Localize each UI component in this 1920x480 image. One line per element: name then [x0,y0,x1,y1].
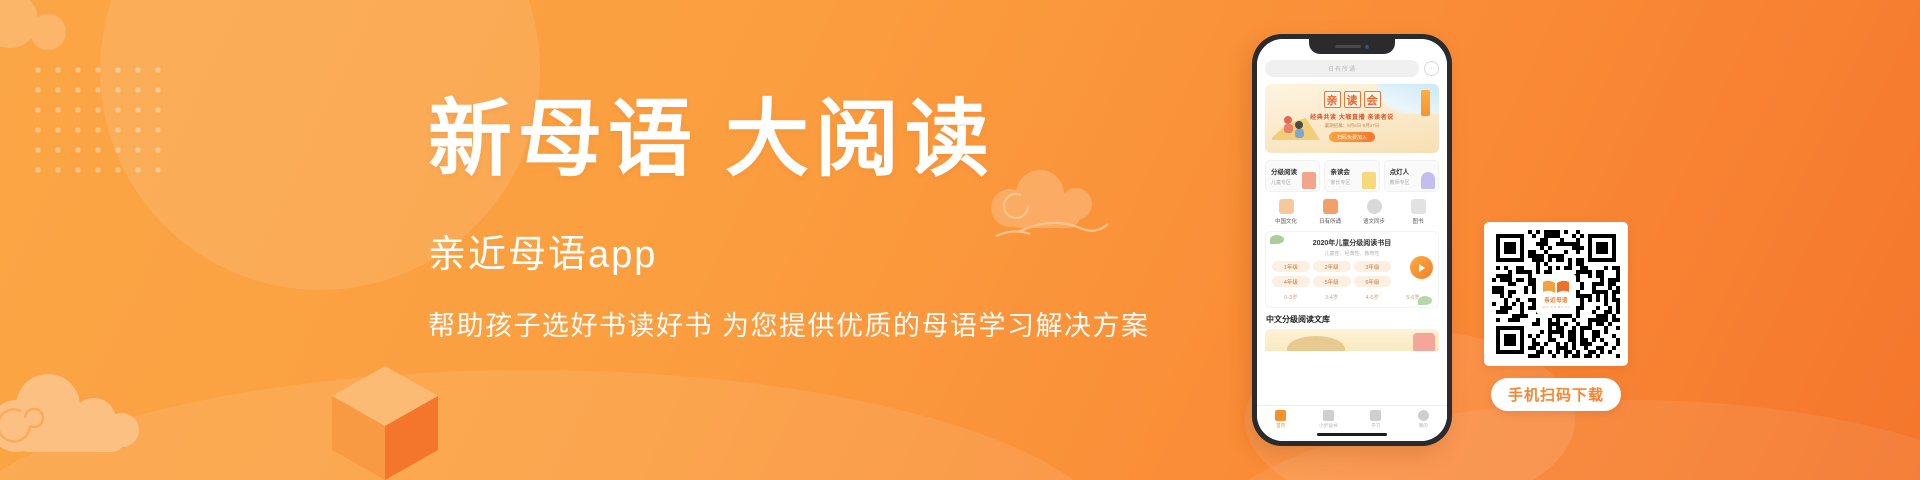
qr-logo-text: 亲近母语 [1544,296,1568,304]
quick-link-item[interactable]: 语文同步 [1353,199,1395,225]
note-icon [1323,410,1334,421]
phone-mockup: 日有所诵 ··· 亲 读 会 [1252,34,1452,446]
tab-study[interactable]: 学习 [1352,410,1400,429]
open-book-logo-icon [1542,279,1570,295]
quick-link-item[interactable]: 图书 [1397,199,1439,225]
category-card[interactable]: 分级阅读 儿童专区 [1265,160,1320,192]
qr-download-block: 亲近母语 QIN JIN MU YU 手机扫码下载 [1484,222,1628,411]
tab-home[interactable]: 首页 [1257,410,1305,429]
shelf-book-decor [1413,333,1435,351]
person-icon [1421,172,1435,189]
section-title: 中文分级阅读文库 [1266,314,1439,325]
category-card-row: 分级阅读 儿童专区 亲读会 家长专区 点灯人 教师专区 [1265,160,1439,192]
recite-book-icon [1323,199,1338,214]
promo-banner: 新母语 大阅读 亲近母语app 帮助孩子选好书读好书 为您提供优质的母语学习解决… [0,0,1920,480]
booklist-title: 2020年儿童分级阅读书目 [1272,238,1432,248]
promo-title-char: 会 [1364,91,1381,108]
grade-tag[interactable]: 6年级 [1354,276,1392,287]
tab-reading[interactable]: 小步读书 [1305,410,1353,429]
page-title: 新母语 大阅读 [428,96,1188,187]
tab-label: 小步读书 [1319,423,1337,429]
grade-tag[interactable]: 5年级 [1313,276,1351,287]
promo-title-char: 读 [1344,91,1361,108]
quick-link-item[interactable]: 中国文化 [1265,199,1307,225]
home-indicator [1317,433,1387,436]
decor-cloud-bottom-left-icon [0,364,186,474]
books-icon [1411,199,1426,214]
leaf-decor-icon [1418,296,1432,305]
quick-link-label: 日有所诵 [1319,217,1341,225]
promo-date: 暑期招募：9月6日-9月27日 [1325,123,1380,129]
age-tag[interactable]: 4-5岁 [1354,291,1392,302]
banner-description: 帮助孩子选好书读好书 为您提供优质的母语学习解决方案 [428,304,1188,343]
app-search-row: 日有所诵 ··· [1265,60,1439,77]
banner-copy: 新母语 大阅读 亲近母语app 帮助孩子选好书读好书 为您提供优质的母语学习解决… [428,96,1188,343]
phone-notch [1309,39,1395,54]
tab-profile[interactable]: 我的 [1400,410,1448,429]
qr-center-logo: 亲近母语 QIN JIN MU YU [1536,274,1576,314]
library-shelf-banner[interactable] [1265,329,1439,351]
front-camera-icon [1365,45,1369,49]
grade-tag[interactable]: 1年级 [1272,261,1310,272]
promo-subtitle: 经典共读 大咖直播 亲读者说 [1310,112,1394,121]
age-tag[interactable]: 0-3岁 [1272,291,1310,302]
age-tag-row: 0-3岁 3-4岁 4-5岁 5-6岁 [1272,291,1432,302]
speaker-grille-icon [1335,45,1361,48]
shelf-arch-decor [1287,336,1345,351]
age-tag[interactable]: 3-4岁 [1313,291,1351,302]
decor-hill-left [0,370,1120,480]
decor-cube-icon [330,360,440,480]
quick-link-item[interactable]: 日有所诵 [1309,199,1351,225]
app-name-subtitle: 亲近母语app [428,223,1188,278]
decor-dot-grid [28,60,164,182]
qr-logo-subtext: QIN JIN MU YU [1542,305,1570,309]
user-icon [1418,410,1429,421]
qr-code[interactable]: 亲近母语 QIN JIN MU YU [1484,222,1628,366]
decor-cloud-top-left-icon [0,0,110,70]
tab-label: 我的 [1419,423,1428,429]
bookmark-icon [1302,172,1316,189]
booklist-card[interactable]: 2020年儿童分级阅读书目 儿童性、经典性、教育性 1年级 2年级 3年级 4年… [1265,231,1439,308]
sync-icon [1367,199,1382,214]
category-card[interactable]: 亲读会 家长专区 [1324,160,1379,192]
clipboard-icon [1370,410,1381,421]
quick-link-label: 图书 [1412,217,1423,225]
grade-tag[interactable]: 3年级 [1354,261,1392,272]
play-video-button[interactable] [1410,256,1433,279]
grade-tag[interactable]: 4年级 [1272,276,1310,287]
tab-label: 学习 [1371,423,1380,429]
culture-icon [1279,199,1294,214]
phone-screen: 日有所诵 ··· 亲 读 会 [1257,39,1447,441]
quick-link-label: 中国文化 [1275,217,1297,225]
search-input[interactable]: 日有所诵 [1265,60,1419,77]
promo-card[interactable]: 亲 读 会 经典共读 大咖直播 亲读者说 暑期招募：9月6日-9月27日 扫码免… [1265,84,1439,153]
promo-ribbon-decor [1421,90,1430,116]
promo-join-button[interactable]: 扫码免费加入 [1329,132,1375,142]
grade-tag[interactable]: 2年级 [1313,261,1351,272]
quick-link-label: 语文同步 [1363,217,1385,225]
grade-tag-row: 4年级 5年级 6年级 [1272,276,1432,287]
promo-title-char: 亲 [1324,91,1341,108]
more-options-icon[interactable]: ··· [1424,61,1439,76]
play-icon [1419,264,1425,272]
home-icon [1275,410,1286,421]
promo-title: 亲 读 会 [1324,91,1381,108]
leaf-decor-icon [1270,235,1284,244]
booklist-subtitle: 儿童性、经典性、教育性 [1272,250,1432,257]
download-button[interactable]: 手机扫码下载 [1491,378,1621,411]
grade-tag-row: 1年级 2年级 3年级 [1272,261,1432,272]
tab-label: 首页 [1276,423,1285,429]
category-card[interactable]: 点灯人 教师专区 [1384,160,1439,192]
quick-link-row: 中国文化 日有所诵 语文同步 图书 [1265,199,1439,225]
book-icon [1362,172,1376,189]
